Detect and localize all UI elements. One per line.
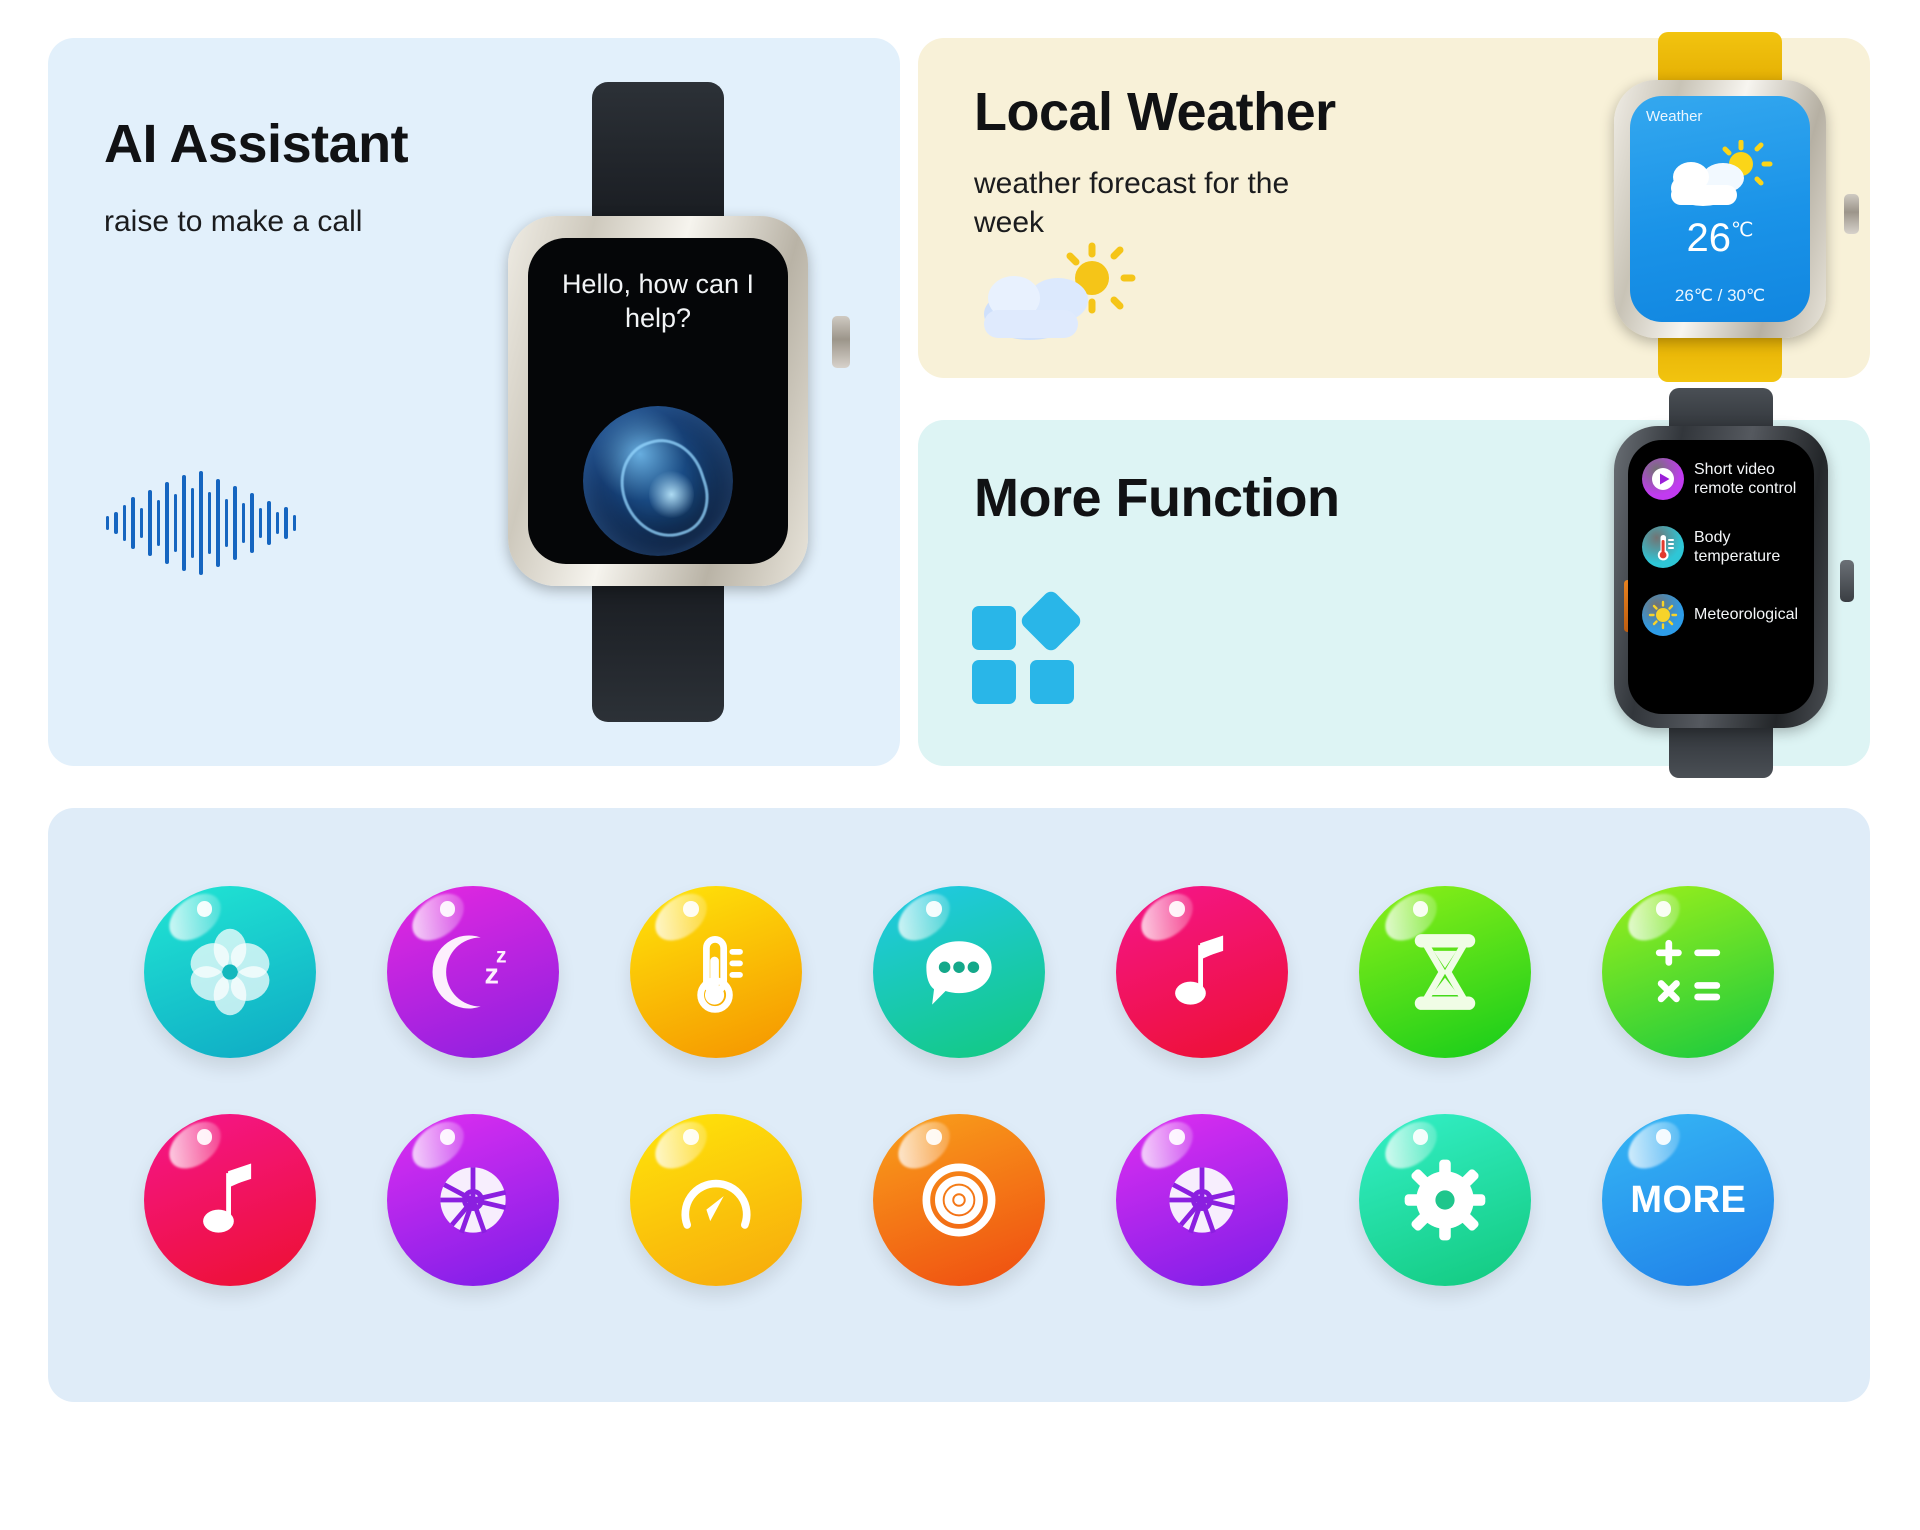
squares-icon — [972, 590, 1102, 700]
watch-crown[interactable] — [1844, 194, 1859, 234]
weather-temperature-value: 26 — [1687, 216, 1732, 260]
waveform-bar — [148, 490, 151, 556]
message-icon[interactable] — [873, 886, 1045, 1058]
weather-app-label: Weather — [1646, 108, 1702, 125]
waveform-bar — [284, 507, 287, 539]
waveform-bar — [174, 494, 177, 552]
weather-temperature-unit: ℃ — [1731, 220, 1753, 242]
ai-assistant-title: AI Assistant — [104, 116, 408, 173]
waveform-bar — [276, 512, 279, 534]
hourglass-icon[interactable] — [1359, 886, 1531, 1058]
music-note-icon[interactable] — [1116, 886, 1288, 1058]
cloud-sun-icon — [974, 238, 1144, 348]
more-button-label: MORE — [1630, 1179, 1746, 1222]
panel-local-weather: Local Weather weather forecast for the w… — [918, 38, 1870, 378]
camera-shutter-icon[interactable] — [387, 1114, 559, 1286]
waveform-bar — [208, 492, 211, 554]
thermometer-icon — [1642, 526, 1684, 568]
watch-crown[interactable] — [832, 316, 850, 368]
settings-gear-icon[interactable] — [1359, 1114, 1531, 1286]
waveform-bar — [199, 471, 202, 575]
target-icon[interactable] — [873, 1114, 1045, 1286]
waveform-bar — [114, 512, 117, 534]
function-list-item[interactable]: Meteorological — [1642, 594, 1806, 636]
watch-screen[interactable]: Short video remote controlBody temperatu… — [1628, 440, 1814, 714]
thermometer-icon[interactable] — [630, 886, 802, 1058]
waveform-bar — [140, 508, 143, 538]
play-circle-icon — [1642, 458, 1684, 500]
ai-assistant-prompt-text: Hello, how can I help? — [528, 268, 788, 336]
waveform-bar — [123, 505, 126, 541]
waveform-bar — [182, 475, 185, 571]
ai-assistant-subtitle: raise to make a call — [104, 202, 362, 241]
waveform-bar — [242, 503, 245, 543]
square-shape — [972, 660, 1016, 704]
weather-temperature-range: 26℃ / 30℃ — [1630, 286, 1810, 306]
watch-band-bottom — [592, 562, 724, 722]
local-weather-subtitle: weather forecast for the week — [974, 164, 1354, 242]
app-icon-grid: zzMORE — [108, 886, 1810, 1286]
diamond-shape — [1018, 588, 1083, 653]
waveform-bar — [106, 516, 109, 530]
panel-ai-assistant: AI Assistant raise to make a call Hello,… — [48, 38, 900, 766]
square-shape — [1030, 660, 1074, 704]
watch-ai-assistant: Hello, how can I help? — [478, 68, 838, 728]
function-list-item[interactable]: Body temperature — [1642, 526, 1806, 568]
camera-shutter-icon[interactable] — [1116, 1114, 1288, 1286]
calculator-icon[interactable] — [1602, 886, 1774, 1058]
waveform-bar — [267, 501, 270, 545]
speedometer-icon[interactable] — [630, 1114, 802, 1286]
watch-case: Short video remote controlBody temperatu… — [1614, 426, 1828, 728]
watch-crown[interactable] — [1840, 560, 1854, 602]
square-shape — [972, 606, 1016, 650]
watch-screen[interactable]: Weather — [1630, 96, 1810, 322]
waveform-bar — [225, 499, 228, 547]
weather-temperature: 26℃ — [1630, 216, 1810, 261]
cloud-sun-icon — [1665, 140, 1775, 210]
waveform-bar — [293, 515, 296, 531]
waveform-bar — [157, 500, 160, 546]
waveform-bar — [250, 493, 253, 553]
waveform-bar — [191, 488, 194, 558]
function-list-item-label: Short video remote control — [1694, 460, 1806, 498]
waveform-bar — [216, 479, 219, 567]
sleep-moon-icon[interactable]: zz — [387, 886, 559, 1058]
waveform-bar — [233, 486, 236, 560]
panel-app-icons: zzMORE — [48, 808, 1870, 1402]
infographic-stage: AI Assistant raise to make a call Hello,… — [0, 0, 1920, 1530]
ai-orb-icon — [583, 406, 733, 556]
function-list-item-label: Meteorological — [1694, 605, 1798, 624]
function-list-item[interactable]: Short video remote control — [1642, 458, 1806, 500]
watch-case: Hello, how can I help? — [508, 216, 808, 586]
watch-more-function: Short video remote controlBody temperatu… — [1596, 388, 1846, 778]
waveform-bar — [131, 497, 134, 549]
more-button[interactable]: MORE — [1602, 1114, 1774, 1286]
audio-waveform-icon — [106, 458, 296, 588]
flower-icon[interactable] — [144, 886, 316, 1058]
panel-more-function: More Function Short video remote control… — [918, 420, 1870, 766]
local-weather-title: Local Weather — [974, 84, 1336, 141]
svg-text:z: z — [496, 944, 507, 967]
music-note-icon[interactable] — [144, 1114, 316, 1286]
function-list-item-label: Body temperature — [1694, 528, 1806, 566]
waveform-bar — [259, 508, 262, 538]
more-function-title: More Function — [974, 470, 1339, 527]
sun-icon — [1642, 594, 1684, 636]
waveform-bar — [165, 482, 168, 564]
watch-screen[interactable]: Hello, how can I help? — [528, 238, 788, 564]
watch-case: Weather — [1614, 80, 1826, 338]
watch-weather: Weather — [1590, 32, 1850, 382]
function-list: Short video remote controlBody temperatu… — [1642, 458, 1806, 662]
